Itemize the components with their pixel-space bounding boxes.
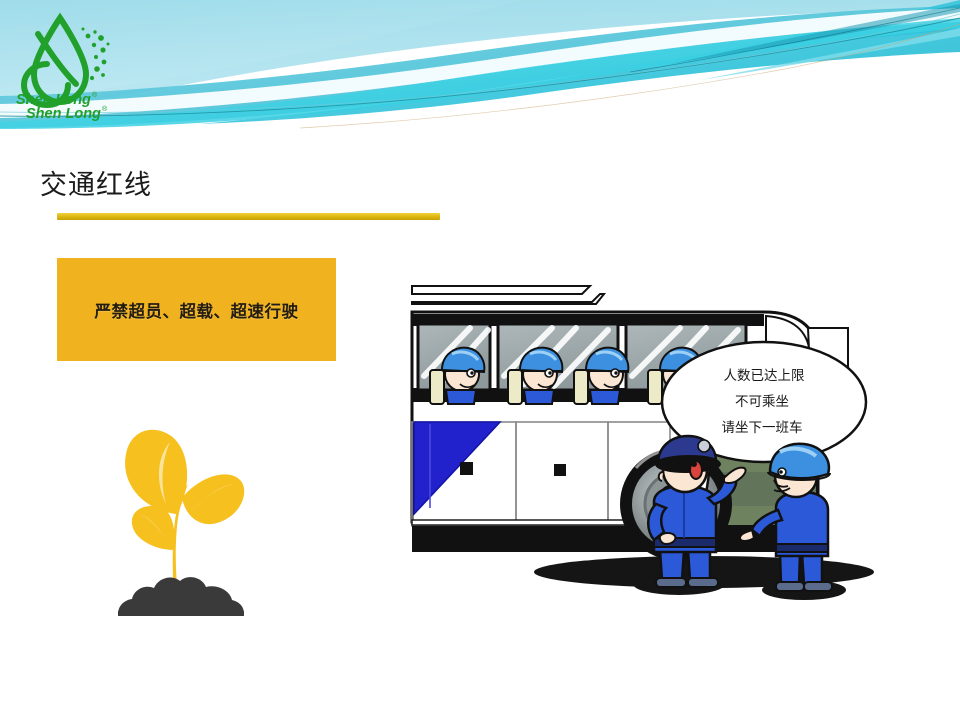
shen-long-logo: Shen Long Shen Long ® ® — [4, 12, 122, 124]
growing-sprout-icon — [104, 418, 252, 618]
rule-callout-box: 严禁超员、超载、超速行驶 — [57, 258, 336, 361]
decorative-wave-banner — [0, 0, 960, 132]
rule-callout-text: 严禁超员、超载、超速行驶 — [95, 298, 299, 322]
page-title: 交通红线 — [40, 168, 152, 202]
svg-text:®: ® — [92, 91, 98, 99]
svg-text:®: ® — [102, 105, 108, 113]
logo-brand-line-2: Shen Long — [26, 106, 101, 122]
title-underline-rule — [57, 213, 440, 220]
bubble-line-1: 人数已达上限 — [724, 368, 805, 383]
overcrowded-bus-illustration: 人数已达上限 不可乘坐 请坐下一班车 — [404, 272, 876, 610]
bubble-line-3: 请坐下一班车 — [722, 419, 803, 435]
slide-canvas: Shen Long Shen Long ® ® 交通红线 严禁超员、超载、超速行… — [0, 0, 960, 720]
bubble-line-2: 不可乘坐 — [735, 394, 789, 409]
